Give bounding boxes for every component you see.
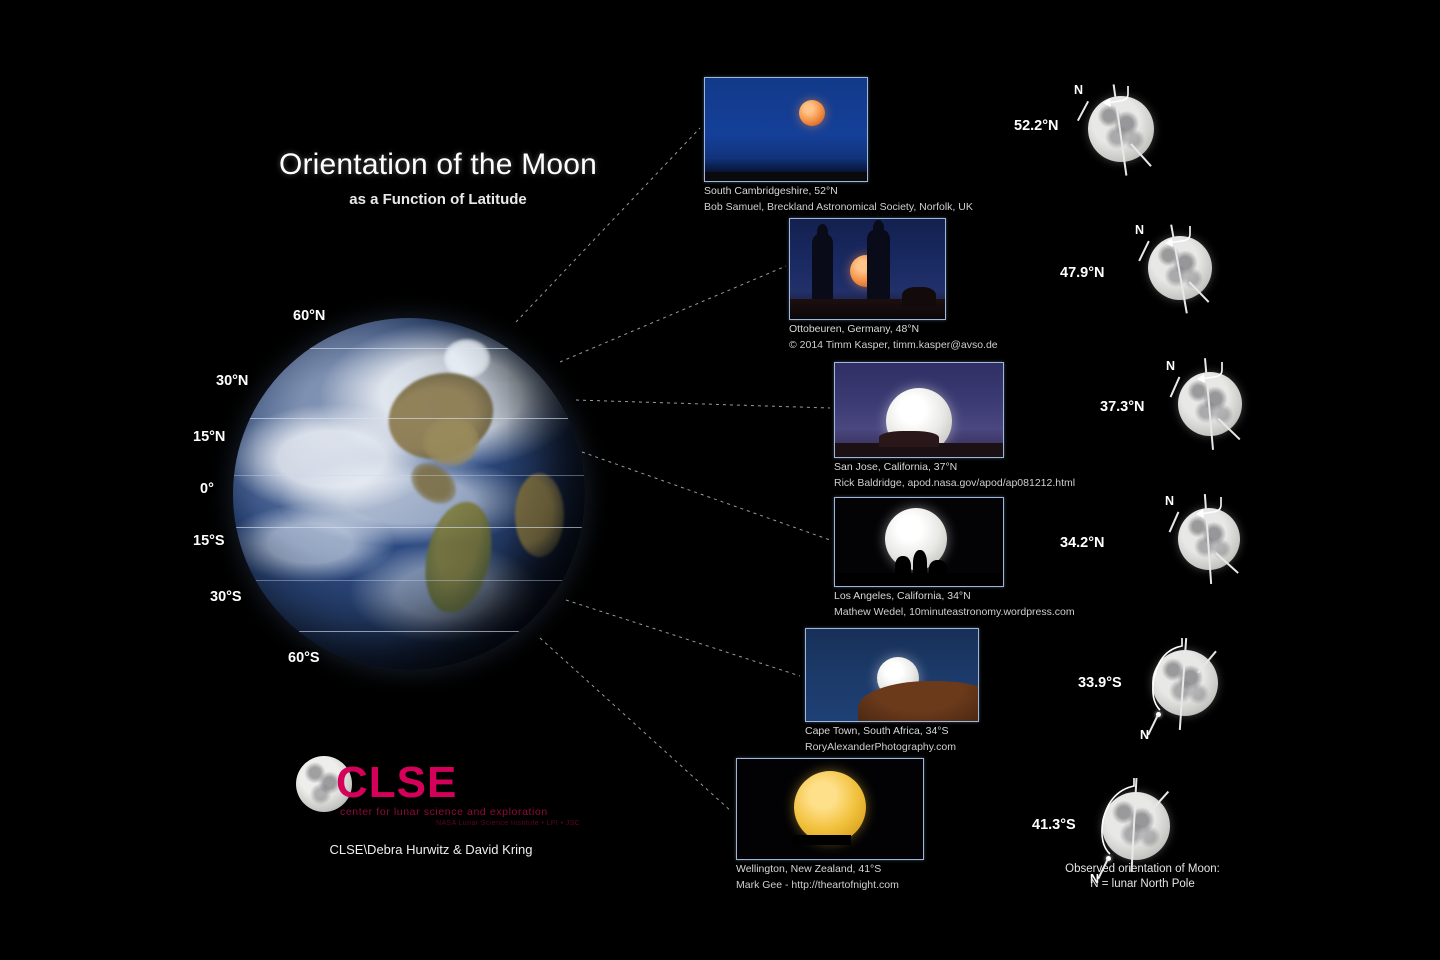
latitude-line-15s bbox=[233, 580, 585, 581]
clse-tagline-secondary: NASA Lunar Science Institute • LPI • JSC bbox=[436, 820, 580, 827]
latitude-label-0: 0° bbox=[200, 481, 214, 497]
photo-card-wellington: Wellington, New Zealand, 41°S Mark Gee -… bbox=[736, 758, 924, 892]
photo-image-cape-town bbox=[805, 628, 979, 722]
photo-caption-line2: Mark Gee - http://theartofnight.com bbox=[736, 879, 924, 892]
dome-silhouette bbox=[902, 287, 936, 307]
north-arrow-arc bbox=[1166, 352, 1236, 394]
photo-caption-line1: Cape Town, South Africa, 34°S bbox=[805, 725, 979, 738]
hill-peak bbox=[879, 431, 939, 447]
latitude-label-30s: 30°S bbox=[210, 589, 242, 605]
photo-caption-line1: Ottobeuren, Germany, 48°N bbox=[789, 323, 998, 336]
legend-line-2: N = lunar North Pole bbox=[1035, 877, 1250, 892]
orientation-52-2-n: 52.2°N N bbox=[1000, 80, 1200, 190]
church-tower-right bbox=[867, 229, 890, 305]
orientation-47-9-n: 47.9°N N bbox=[1000, 218, 1210, 328]
clse-wordmark: CLSE bbox=[336, 761, 457, 805]
photo-caption-line2: © 2014 Timm Kasper, timm.kasper@avso.de bbox=[789, 339, 998, 352]
legend-line-1: Observed orientation of Moon: bbox=[1035, 862, 1250, 877]
orientation-latitude-label: 41.3°S bbox=[1032, 817, 1076, 833]
photo-image-south-cambridgeshire bbox=[704, 77, 868, 182]
latitude-label-60s: 60°S bbox=[288, 650, 320, 666]
photo-card-ottobeuren: Ottobeuren, Germany, 48°N © 2014 Timm Ka… bbox=[789, 218, 998, 352]
author-credit: CLSE\Debra Hurwitz & David Kring bbox=[295, 842, 567, 857]
latitude-line-60n bbox=[233, 348, 585, 349]
photo-image-los-angeles bbox=[834, 497, 1004, 587]
north-arrow-arc bbox=[1166, 490, 1236, 530]
photo-caption-line2: Bob Samuel, Breckland Astronomical Socie… bbox=[704, 201, 973, 214]
photo-caption-line1: South Cambridgeshire, 52°N bbox=[704, 185, 973, 198]
north-pole-label: N bbox=[1135, 223, 1144, 237]
orientation-34-2-n: 34.2°N N bbox=[1000, 490, 1220, 600]
orientation-latitude-label: 52.2°N bbox=[1014, 118, 1059, 134]
earth-globe bbox=[233, 318, 585, 670]
latitude-line-0 bbox=[233, 527, 585, 528]
title-block: Orientation of the Moon as a Function of… bbox=[228, 148, 648, 208]
photo-image-ottobeuren bbox=[789, 218, 946, 320]
tree-silhouette-3 bbox=[929, 560, 947, 578]
photo-image-wellington bbox=[736, 758, 924, 860]
church-tower-left-cap bbox=[817, 224, 828, 240]
north-arrow-arc bbox=[1130, 634, 1200, 720]
north-arrow-arc bbox=[1080, 774, 1150, 864]
north-arrow-arc bbox=[1136, 218, 1206, 258]
latitude-label-30n: 30°N bbox=[216, 373, 248, 389]
orientation-latitude-label: 47.9°N bbox=[1060, 265, 1105, 281]
orientation-latitude-label: 33.9°S bbox=[1078, 675, 1122, 691]
orientation-37-3-n: 37.3°N N bbox=[1000, 352, 1220, 462]
latitude-line-30s bbox=[233, 631, 585, 632]
moon-in-photo bbox=[794, 771, 866, 843]
photo-card-cape-town: Cape Town, South Africa, 34°S RoryAlexan… bbox=[805, 628, 979, 754]
photo-caption-line1: San Jose, California, 37°N bbox=[834, 461, 1075, 474]
north-pole-label: N bbox=[1140, 728, 1149, 742]
clse-logo: CLSE center for lunar science and explor… bbox=[296, 754, 566, 854]
photo-caption-line1: Wellington, New Zealand, 41°S bbox=[736, 863, 924, 876]
north-pole-label: N bbox=[1074, 83, 1083, 97]
church-tower-left bbox=[812, 233, 833, 305]
photo-card-south-cambridgeshire: South Cambridgeshire, 52°N Bob Samuel, B… bbox=[704, 77, 973, 214]
legend: Observed orientation of Moon: N = lunar … bbox=[1035, 862, 1250, 892]
latitude-label-60n: 60°N bbox=[293, 308, 325, 324]
orientation-latitude-label: 37.3°N bbox=[1100, 399, 1145, 415]
north-pole-label: N bbox=[1166, 359, 1175, 373]
rock-mound-silhouette bbox=[858, 681, 979, 722]
latitude-line-30n bbox=[233, 418, 585, 419]
page-subtitle: as a Function of Latitude bbox=[228, 191, 648, 208]
latitude-line-15n bbox=[233, 475, 585, 476]
photo-caption-line2: Rick Baldridge, apod.nasa.gov/apod/ap081… bbox=[834, 477, 1075, 490]
latitude-label-15s: 15°S bbox=[193, 533, 225, 549]
photo-caption-line2: RoryAlexanderPhotography.com bbox=[805, 741, 979, 754]
north-pole-label: N bbox=[1165, 494, 1174, 508]
photo-caption-line2: Mathew Wedel, 10minuteastronomy.wordpres… bbox=[834, 606, 1075, 619]
page-title: Orientation of the Moon bbox=[228, 148, 648, 182]
latitude-label-15n: 15°N bbox=[193, 429, 225, 445]
clse-tagline: center for lunar science and exploration bbox=[340, 806, 548, 818]
photo-image-san-jose bbox=[834, 362, 1004, 458]
earth-shading bbox=[233, 318, 585, 670]
horizon-silhouette bbox=[705, 172, 867, 181]
church-tower-right-cap bbox=[873, 220, 884, 236]
poster-canvas: Orientation of the Moon as a Function of… bbox=[0, 0, 1440, 960]
tree-silhouette-1 bbox=[895, 556, 911, 578]
earth-sphere bbox=[233, 318, 585, 670]
orientation-latitude-label: 34.2°N bbox=[1060, 535, 1105, 551]
tree-silhouette-2 bbox=[913, 550, 927, 578]
orientation-33-9-s: 33.9°S N bbox=[1000, 628, 1220, 748]
city-skyline-silhouette bbox=[793, 835, 851, 845]
moon-in-photo bbox=[799, 100, 825, 126]
